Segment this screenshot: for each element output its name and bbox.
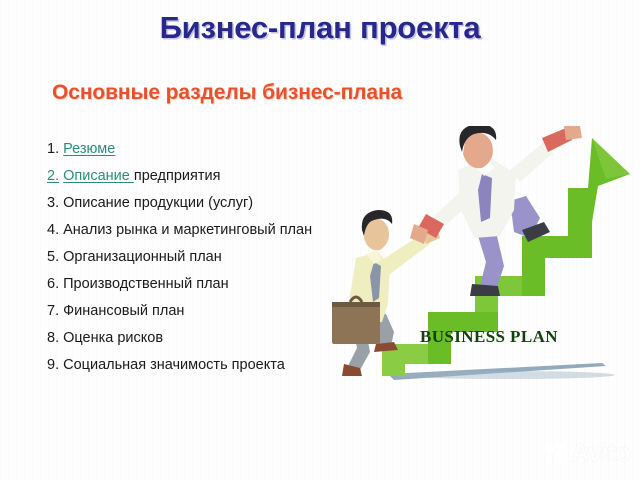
subtitle: Основные разделы бизнес-плана xyxy=(52,81,402,105)
lower-figure-briefcase xyxy=(332,302,380,344)
briefcase-band xyxy=(332,302,380,307)
list-item-text: Организационный план xyxy=(63,249,222,265)
list-item-text: предприятия xyxy=(134,168,221,184)
business-plan-caption: BUSINESS PLAN xyxy=(420,327,558,347)
list-item-link[interactable]: Резюме xyxy=(63,141,115,157)
list-item[interactable]: 3. Описание продукции (услуг) xyxy=(47,190,367,217)
sections-list: 1. Резюме 2. Описание предприятия 3. Опи… xyxy=(47,136,367,379)
list-item[interactable]: 2. Описание предприятия xyxy=(47,163,367,190)
list-item-text: Производственный план xyxy=(63,276,229,292)
list-item-text: Социальная значимость проекта xyxy=(63,357,285,373)
list-item-number: 2. xyxy=(47,168,59,184)
page-title: Бизнес-план проекта xyxy=(0,10,640,46)
list-item-number: 5. xyxy=(47,249,59,265)
list-item-text: Описание продукции (услуг) xyxy=(63,195,253,211)
list-item-number: 6. xyxy=(47,276,59,292)
business-plan-illustration xyxy=(330,126,640,406)
list-item[interactable]: 7. Финансовый план xyxy=(47,298,367,325)
list-item[interactable]: 4. Анализ рынка и маркетинговый план xyxy=(47,217,367,244)
upper-figure-upper-hand xyxy=(564,126,582,140)
list-item-text: Оценка рисков xyxy=(63,330,163,346)
list-item-number: 7. xyxy=(47,303,59,319)
list-item[interactable]: 6. Производственный план xyxy=(47,271,367,298)
list-item[interactable]: 1. Резюме xyxy=(47,136,367,163)
list-item-number: 3. xyxy=(47,195,59,211)
list-item[interactable]: 9. Социальная значимость проекта xyxy=(47,352,367,379)
list-item-number: 9. xyxy=(47,357,59,373)
ground-shadow-blur xyxy=(395,371,615,379)
staircase-arrow-graphic xyxy=(330,126,640,406)
avito-watermark: Avito xyxy=(542,439,630,468)
avito-watermark-text: Avito xyxy=(571,439,630,468)
list-item-number: 4. xyxy=(47,222,59,238)
list-item-number: 1. xyxy=(47,141,59,157)
list-item[interactable]: 8. Оценка рисков xyxy=(47,325,367,352)
list-item[interactable]: 5. Организационный план xyxy=(47,244,367,271)
upper-businessman-figure xyxy=(410,126,582,296)
list-item-text: Анализ рынка и маркетинговый план xyxy=(63,222,312,238)
avito-logo-icon xyxy=(542,443,568,465)
list-item-link[interactable]: Описание xyxy=(63,168,134,184)
slide-canvas: Бизнес-план проекта Основные разделы биз… xyxy=(0,0,640,480)
list-item-number: 8. xyxy=(47,330,59,346)
list-item-text: Финансовый план xyxy=(63,303,184,319)
